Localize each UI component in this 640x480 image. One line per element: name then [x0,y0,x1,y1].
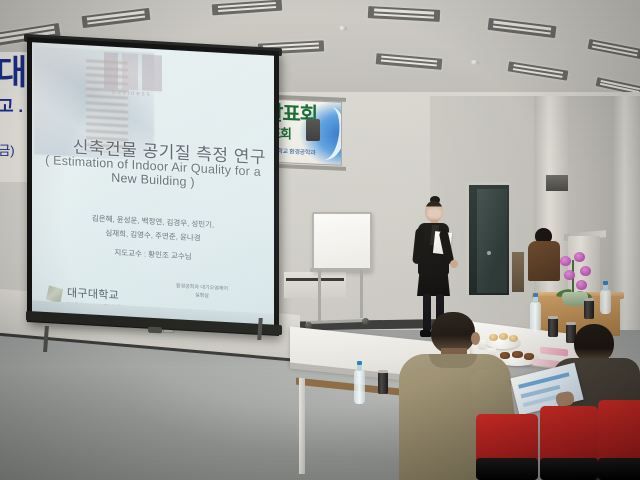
screen-pull-knob [148,327,162,334]
whiteboard-leg [360,270,363,318]
left-banner-top-text: 대 [0,56,25,90]
presenter-skirt [417,270,450,296]
cabinet-trim [286,278,344,281]
beverage-can [584,300,594,319]
whiteboard [312,212,372,272]
slide-lab-credit: 환경공학과 대기오염제어 실험실 [142,280,262,303]
side-chair [512,252,524,292]
projection-screen: business 신축건물 공기질 측정 연구 ( Estimation of … [27,37,279,336]
low-cabinet [284,272,346,298]
whiteboard-leg [318,270,321,322]
lecture-hall-photo: 대 고 . (금) 발표회 표회 구대학교 환경공학과 business 신축건… [0,0,640,480]
presentation-slide: business 신축건물 공기질 측정 연구 ( Estimation of … [32,42,274,328]
presenter-hand [450,260,458,268]
door-handle-icon[interactable] [487,251,491,255]
front-table-leg [299,378,305,474]
presenter-face [427,208,442,219]
door-leaf[interactable] [477,189,507,293]
wall-speaker [306,119,320,141]
wall-mounted-unit [546,175,568,191]
left-banner-bottom-text: (금) [0,140,15,159]
audience-ear [471,332,480,345]
orchid-bloom [564,270,575,280]
audience-chair [540,406,598,480]
water-bottle [354,370,365,404]
ceiling-sensor [470,60,479,65]
chair-armrest [540,458,598,480]
doorway [466,182,509,295]
beverage-can [378,372,388,394]
water-bottle [600,290,611,314]
orchid-bloom [576,280,587,290]
audience-chair [598,400,640,480]
orchid-bloom [580,266,591,276]
ceiling-sensor [338,26,347,31]
orchid-bloom [574,252,585,262]
audience-chair [476,414,538,480]
water-bottle [530,302,541,332]
left-banner-mid-text: 고 . [0,98,23,115]
audience-collar [429,354,477,368]
logo-korean-text: 대구대학교 [67,284,126,303]
orchid-bloom [560,256,571,266]
chair-armrest [476,458,538,480]
slide-photo-blocks [104,52,162,91]
chair-armrest [598,458,640,480]
whiteboard-caster [362,318,369,325]
